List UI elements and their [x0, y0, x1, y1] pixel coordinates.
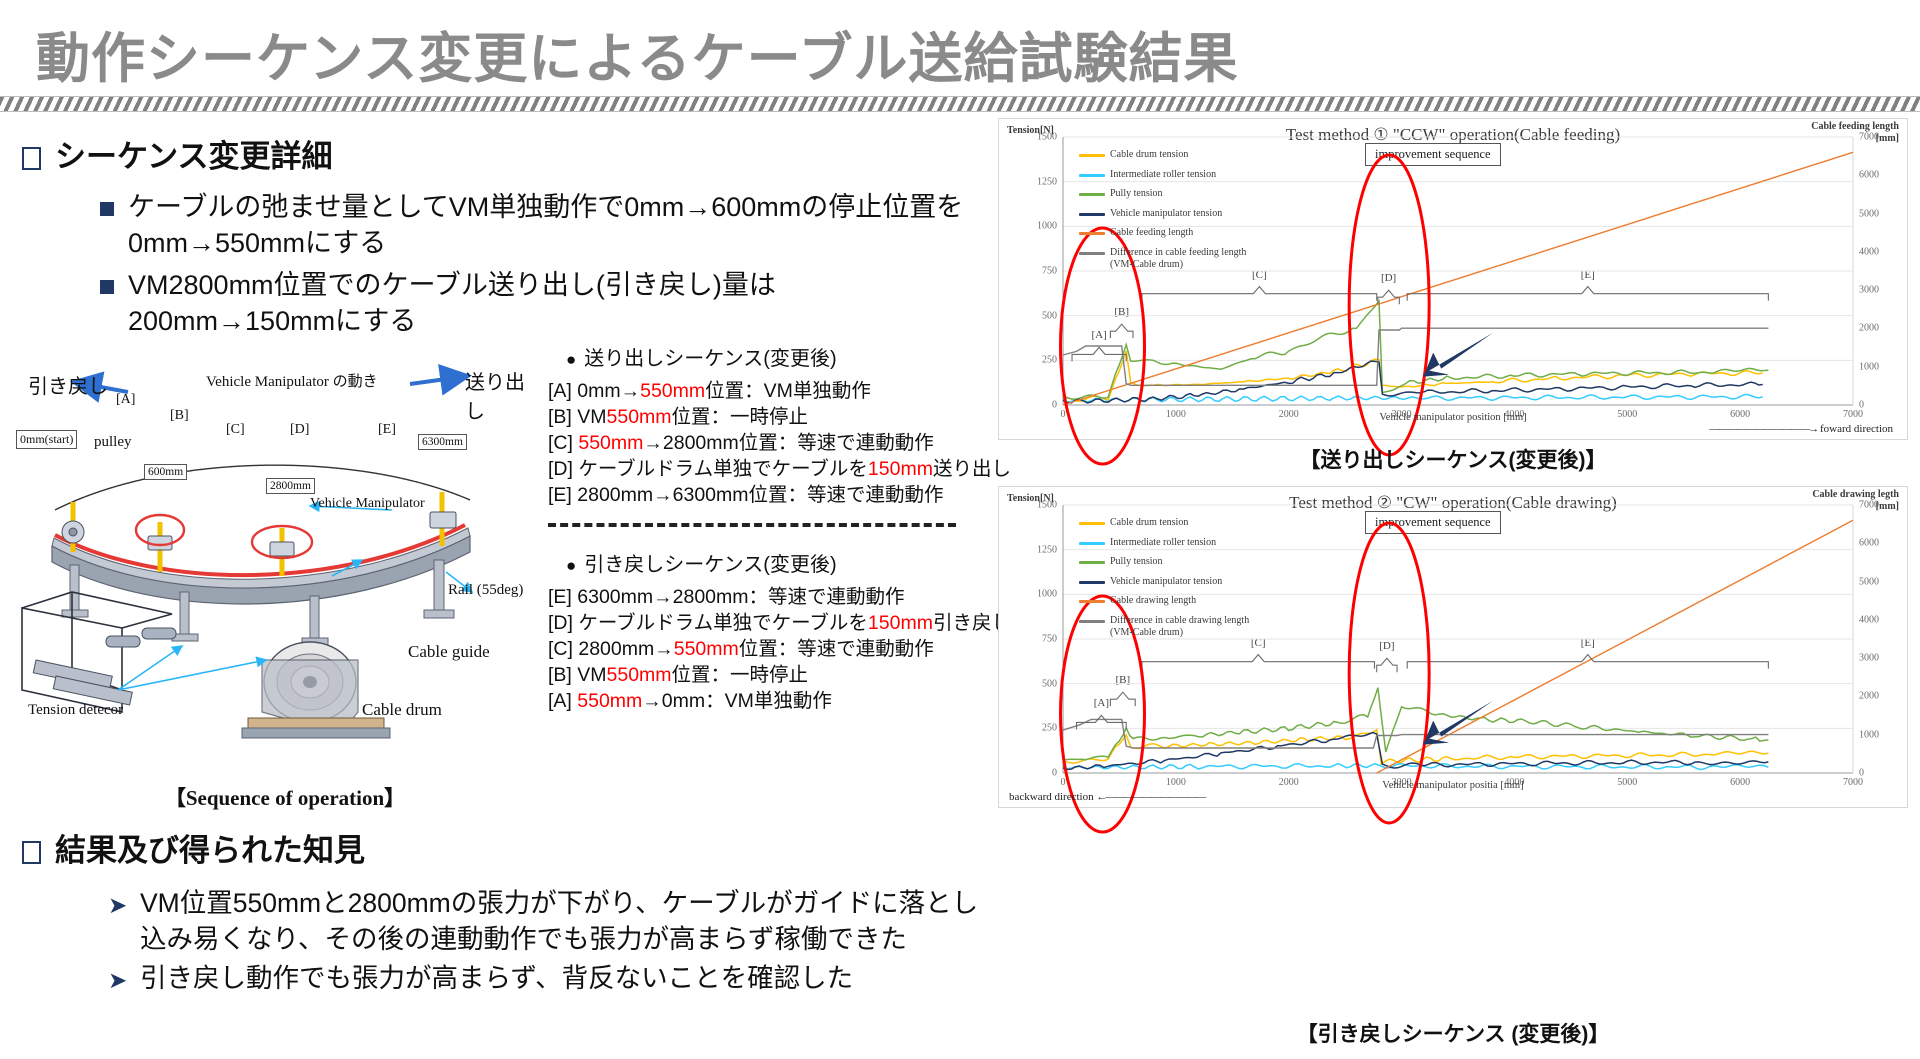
chart-secondary-y-tick: 7000	[1859, 500, 1879, 511]
label-vehicle-manipulator: Vehicle Manipulator	[310, 496, 425, 512]
chart-phase-bracket	[1378, 290, 1399, 304]
detail-heading-label: シーケンス変更詳細	[55, 138, 332, 175]
sequence-step-line: [E] 6300mm→2800mm：等速で連動動作	[548, 585, 988, 611]
label-2800mm: 2800mm	[266, 478, 315, 494]
chart-legend-label: Cable drum tension	[1110, 149, 1188, 162]
sequence-step-line: [C] 2800mm→550mm位置：等速で連動動作	[548, 637, 988, 663]
chart-legend: Cable drum tensionIntermediate roller te…	[1079, 517, 1249, 647]
filled-square-bullet-icon	[100, 280, 114, 294]
feed-sequence-block: ●送り出しシーケンス(変更後) [A] 0mm→550mm位置：VM単独動作[B…	[548, 342, 988, 539]
chart-phase-bracket	[1407, 287, 1768, 301]
chart-legend-label: Cable drawing length	[1110, 595, 1196, 608]
chart-secondary-y-tick: 4000	[1859, 246, 1879, 257]
result-heading-label: 結果及び得られた知見	[55, 832, 365, 869]
chart-red-highlight-ellipse	[1349, 155, 1429, 455]
chart-secondary-y-tick: 1000	[1859, 729, 1879, 740]
chart-y-tick: 0	[1052, 768, 1057, 779]
sequence-step-line: [D] ケーブルドラム単独でケーブルを150mm送り出し	[548, 457, 988, 483]
result-bullet-text: 引き戻し動作でも張力が高まらず、背反ないことを確認した	[140, 961, 853, 997]
label-600mm: 600mm	[144, 464, 187, 480]
label-6300mm: 6300mm	[418, 434, 467, 450]
draw-sequence-heading: ●引き戻しシーケンス(変更後)	[566, 548, 988, 577]
sequence-step-text: ケーブルドラム単独でケーブルを	[578, 458, 868, 480]
chart-series-line	[1063, 764, 1768, 770]
label-pulley: pulley	[94, 434, 132, 451]
sequence-step-tag: [B]	[548, 406, 577, 428]
detail-bullet-text: VM2800mm位置でのケーブル送り出し(引き戻し)量は200mm→150mmに…	[128, 268, 980, 340]
chart-direction-label: backward direction ←———————————	[1009, 791, 1204, 803]
sequence-divider	[548, 523, 956, 527]
feed-sequence-heading: ●送り出しシーケンス(変更後)	[566, 342, 988, 371]
label-start-position: 0mm(start)	[16, 430, 77, 449]
sequence-step-tag: [C]	[548, 432, 578, 454]
chart-legend-item: Cable feeding length	[1079, 227, 1246, 240]
chart-cw-cable-drawing: Test method ② "CW" operation(Cable drawi…	[998, 486, 1908, 808]
chart-y-tick: 500	[1042, 678, 1057, 689]
sequence-step-line: [B] VM550mm位置：一時停止	[548, 405, 988, 431]
chart-callout-arrow-icon	[1423, 333, 1493, 377]
bracket-label-d: [D]	[290, 422, 309, 438]
chart-legend-label: Pully tension	[1110, 188, 1163, 201]
feed-sequence-lines: [A] 0mm→550mm位置：VM単独動作[B] VM550mm位置：一時停止…	[548, 379, 988, 509]
round-bullet-icon: ●	[566, 350, 576, 369]
chevron-right-bullet-icon: ➤	[108, 894, 128, 917]
chart-phase-bracket	[1077, 715, 1127, 729]
sequence-step-text: →0mm：VM単独動作	[642, 690, 832, 712]
chart-legend-item: Pully tension	[1079, 556, 1249, 569]
sequence-of-operation-diagram: 引き戻し 送り出し Vehicle Manipulator の動き [A] [B…	[10, 360, 540, 780]
bracket-label-e: [E]	[378, 422, 396, 438]
chart-y-tick: 250	[1042, 355, 1057, 366]
chart-legend-swatch	[1079, 193, 1105, 196]
left-content-column: シーケンス変更詳細 ケーブルの弛ませ量としてVM単独動作で0mm→600mmの停…	[0, 120, 990, 1059]
sequence-step-tag: [E]	[548, 484, 577, 506]
chart-y-tick: 500	[1042, 310, 1057, 321]
chart-legend-swatch	[1079, 542, 1105, 545]
chart-legend-swatch	[1079, 174, 1105, 177]
sequence-step-tag: [A]	[548, 380, 577, 402]
sequence-step-text: ケーブルドラム単独でケーブルを	[578, 612, 868, 634]
chart-legend-item: Intermediate roller tension	[1079, 169, 1246, 182]
chart-legend-item: Cable drum tension	[1079, 149, 1246, 162]
draw-sequence-block: ●引き戻しシーケンス(変更後) [E] 6300mm→2800mm：等速で連動動…	[548, 548, 988, 715]
chart-legend-label: Intermediate roller tension	[1110, 537, 1216, 550]
result-bullet-text: VM位置550mmと2800mmの張力が下がり、ケーブルがガイドに落とし込み易く…	[140, 886, 988, 957]
chart-callout-arrow-icon	[1423, 701, 1493, 745]
chart-phase-bracket	[1110, 324, 1133, 338]
chart-y-tick: 0	[1052, 400, 1057, 411]
chart-legend: Cable drum tensionIntermediate roller te…	[1079, 149, 1246, 279]
sequence-step-line: [D] ケーブルドラム単独でケーブルを150mm引き戻し	[548, 611, 988, 637]
sequence-step-text: VM	[577, 664, 606, 686]
chart-legend-label: Pully tension	[1110, 556, 1163, 569]
sequence-step-highlight: 550mm	[674, 638, 739, 660]
chart-cw-caption: 【引き戻しシーケンス (変更後)】	[998, 1018, 1908, 1048]
sequence-step-highlight: 150mm	[868, 458, 933, 480]
feed-sequence-heading-label: 送り出しシーケンス(変更後)	[584, 348, 836, 370]
label-cable-drum: Cable drum	[362, 700, 442, 720]
detail-bullet-text: ケーブルの弛ませ量としてVM単独動作で0mm→600mmの停止位置を0mm→55…	[128, 190, 980, 262]
sequence-step-text: 位置：VM単独動作	[705, 380, 871, 402]
chart-series-line	[1063, 351, 1763, 401]
label-cable-guide: Cable guide	[408, 642, 490, 662]
sequence-step-text: 2800mm→	[578, 638, 673, 660]
draw-sequence-heading-label: 引き戻しシーケンス(変更後)	[584, 554, 836, 576]
chart-legend-label: Intermediate roller tension	[1110, 169, 1216, 182]
sequence-step-line: [C] 550mm→2800mm位置：等速で連動動作	[548, 431, 988, 457]
chart-y-tick: 1250	[1037, 544, 1057, 555]
chart-secondary-y-tick: 3000	[1859, 285, 1879, 296]
bracket-label-b: [B]	[170, 408, 189, 424]
chart-legend-swatch	[1079, 213, 1105, 216]
sequence-step-line: [B] VM550mm位置：一時停止	[548, 663, 988, 689]
chart-legend-label: Difference in cable drawing length (VM-C…	[1110, 615, 1249, 640]
chart-legend-item: Cable drum tension	[1079, 517, 1249, 530]
sequence-step-text: 位置：等速で連動動作	[739, 638, 934, 660]
sequence-step-line: [A] 0mm→550mm位置：VM単独動作	[548, 379, 988, 405]
chart-y-tick: 750	[1042, 634, 1057, 645]
label-pullback: 引き戻し	[28, 370, 108, 399]
chart-ccw-caption: 【送り出しシーケンス(変更後)】	[998, 444, 1908, 474]
chart-legend-item: Difference in cable feeding length (VM-C…	[1079, 247, 1246, 272]
chart-phase-bracket	[1110, 692, 1135, 706]
sequence-step-line: [A] 550mm→0mm：VM単独動作	[548, 689, 988, 715]
chart-y-tick: 1000	[1037, 589, 1057, 600]
chart-legend-label: Difference in cable feeding length (VM-C…	[1110, 247, 1246, 272]
sequence-step-highlight: 550mm	[640, 380, 705, 402]
chart-red-highlight-ellipse	[1349, 523, 1429, 823]
sequence-step-text: 2800mm→6300mm位置：等速で連動動作	[577, 484, 943, 506]
chart-series-line	[1063, 688, 1768, 761]
chart-legend-item: Intermediate roller tension	[1079, 537, 1249, 550]
chart-secondary-y-tick: 6000	[1859, 170, 1879, 181]
round-bullet-icon: ●	[566, 556, 576, 575]
chart-secondary-y-tick: 3000	[1859, 653, 1879, 664]
sequence-step-line: [E] 2800mm→6300mm位置：等速で連動動作	[548, 483, 988, 509]
sequence-step-tag: [B]	[548, 664, 577, 686]
title-bar: 動作シーケンス変更によるケーブル送給試験結果	[0, 0, 1920, 112]
label-vm-motion: Vehicle Manipulator の動き	[206, 370, 378, 391]
bracket-label-c: [C]	[226, 422, 245, 438]
chart-y-tick: 250	[1042, 723, 1057, 734]
sequence-step-highlight: 550mm	[607, 406, 672, 428]
chart-phase-bracket	[1142, 655, 1374, 669]
chart-y-tick: 1000	[1037, 221, 1057, 232]
chart-legend-swatch	[1079, 600, 1105, 603]
sequence-step-text: 0mm→	[577, 380, 640, 402]
chart-legend-swatch	[1079, 252, 1105, 255]
chart-direction-label: ———————————→ foward direction	[1709, 423, 1893, 435]
sequence-step-tag: [D]	[548, 612, 578, 634]
sequence-step-text: →2800mm位置：等速で連動動作	[643, 432, 933, 454]
list-item: ➤ 引き戻し動作でも張力が高まらず、背反ないことを確認した	[108, 961, 988, 997]
sequence-step-text: 6300mm→2800mm：等速で連動動作	[577, 586, 904, 608]
chart-legend-swatch	[1079, 154, 1105, 157]
chart-x-axis-label: Vehicle manipulator position [mm]	[999, 412, 1907, 423]
sequence-step-highlight: 550mm	[607, 664, 672, 686]
chart-legend-swatch	[1079, 620, 1105, 623]
chart-legend-swatch	[1079, 561, 1105, 564]
chart-secondary-y-tick: 7000	[1859, 132, 1879, 143]
chart-legend-item: Cable drawing length	[1079, 595, 1249, 608]
chart-y-tick: 1500	[1037, 500, 1057, 511]
section-heading-results: 結果及び得られた知見	[22, 832, 365, 869]
list-item: ➤ VM位置550mmと2800mmの張力が下がり、ケーブルがガイドに落とし込み…	[108, 886, 988, 957]
list-item: VM2800mm位置でのケーブル送り出し(引き戻し)量は200mm→150mmに…	[100, 268, 980, 340]
chart-y-tick: 750	[1042, 266, 1057, 277]
chart-legend-swatch	[1079, 522, 1105, 525]
bracket-label-a: [A]	[116, 392, 135, 408]
chart-secondary-y-tick: 6000	[1859, 538, 1879, 549]
chart-legend-swatch	[1079, 581, 1105, 584]
chart-secondary-y-tick: 4000	[1859, 614, 1879, 625]
chart-secondary-y-tick: 5000	[1859, 576, 1879, 587]
chart-secondary-y-tick: 1000	[1859, 361, 1879, 372]
sequence-step-text: 位置：一時停止	[672, 664, 809, 686]
chart-x-axis-label: Vehicle manipulator positia [mm]	[999, 780, 1907, 791]
chart-legend-swatch	[1079, 232, 1105, 235]
square-outline-bullet-icon	[22, 147, 41, 170]
list-item: ケーブルの弛ませ量としてVM単独動作で0mm→600mmの停止位置を0mm→55…	[100, 190, 980, 262]
chart-legend-label: Vehicle manipulator tension	[1110, 576, 1222, 589]
chart-series-line	[1063, 328, 1768, 385]
chart-legend-item: Difference in cable drawing length (VM-C…	[1079, 615, 1249, 640]
page-title: 動作シーケンス変更によるケーブル送給試験結果	[36, 14, 1238, 93]
chart-y-tick: 1250	[1037, 176, 1057, 187]
sequence-step-tag: [D]	[548, 458, 578, 480]
label-feedout: 送り出し	[465, 366, 540, 424]
sequence-step-tag: [A]	[548, 690, 577, 712]
sequence-step-tag: [E]	[548, 586, 577, 608]
result-bullet-list: ➤ VM位置550mmと2800mmの張力が下がり、ケーブルがガイドに落とし込み…	[108, 886, 988, 1001]
chart-phase-bracket	[1377, 658, 1397, 672]
label-rail: Rail (55deg)	[448, 582, 523, 599]
sequence-step-text: 位置：一時停止	[672, 406, 809, 428]
diagram-caption: 【Sequence of operation】	[120, 782, 450, 812]
draw-sequence-lines: [E] 6300mm→2800mm：等速で連動動作[D] ケーブルドラム単独でケ…	[548, 585, 988, 715]
chart-legend-label: Vehicle manipulator tension	[1110, 208, 1222, 221]
chart-legend-item: Vehicle manipulator tension	[1079, 576, 1249, 589]
title-divider	[0, 96, 1920, 112]
sequence-step-highlight: 550mm	[578, 432, 643, 454]
detail-bullet-list: ケーブルの弛ませ量としてVM単独動作で0mm→600mmの停止位置を0mm→55…	[100, 190, 980, 346]
slide-root: 動作シーケンス変更によるケーブル送給試験結果 シーケンス変更詳細 ケーブルの弛ま…	[0, 0, 1920, 1059]
chart-legend-item: Pully tension	[1079, 188, 1246, 201]
square-outline-bullet-icon	[22, 841, 41, 864]
chevron-right-bullet-icon: ➤	[108, 969, 128, 992]
chart-legend-label: Cable feeding length	[1110, 227, 1193, 240]
sequence-step-text: VM	[577, 406, 606, 428]
chart-phase-bracket	[1142, 287, 1377, 301]
chart-ccw-cable-feeding: Test method ① "CCW" operation(Cable feed…	[998, 118, 1908, 440]
chart-series-line	[1063, 394, 1763, 402]
section-heading-detail: シーケンス変更詳細	[22, 138, 332, 175]
chart-legend-item: Vehicle manipulator tension	[1079, 208, 1246, 221]
filled-square-bullet-icon	[100, 202, 114, 216]
sequence-step-tag: [C]	[548, 638, 578, 660]
chart-secondary-y-tick: 2000	[1859, 323, 1879, 334]
sequence-step-highlight: 550mm	[577, 690, 642, 712]
chart-legend-label: Cable drum tension	[1110, 517, 1188, 530]
chart-secondary-y-tick: 5000	[1859, 208, 1879, 219]
chart-y-tick: 1500	[1037, 132, 1057, 143]
sequence-step-highlight: 150mm	[868, 612, 933, 634]
label-tension-detector: Tension detecor	[28, 702, 123, 719]
chart-secondary-y-tick: 2000	[1859, 691, 1879, 702]
